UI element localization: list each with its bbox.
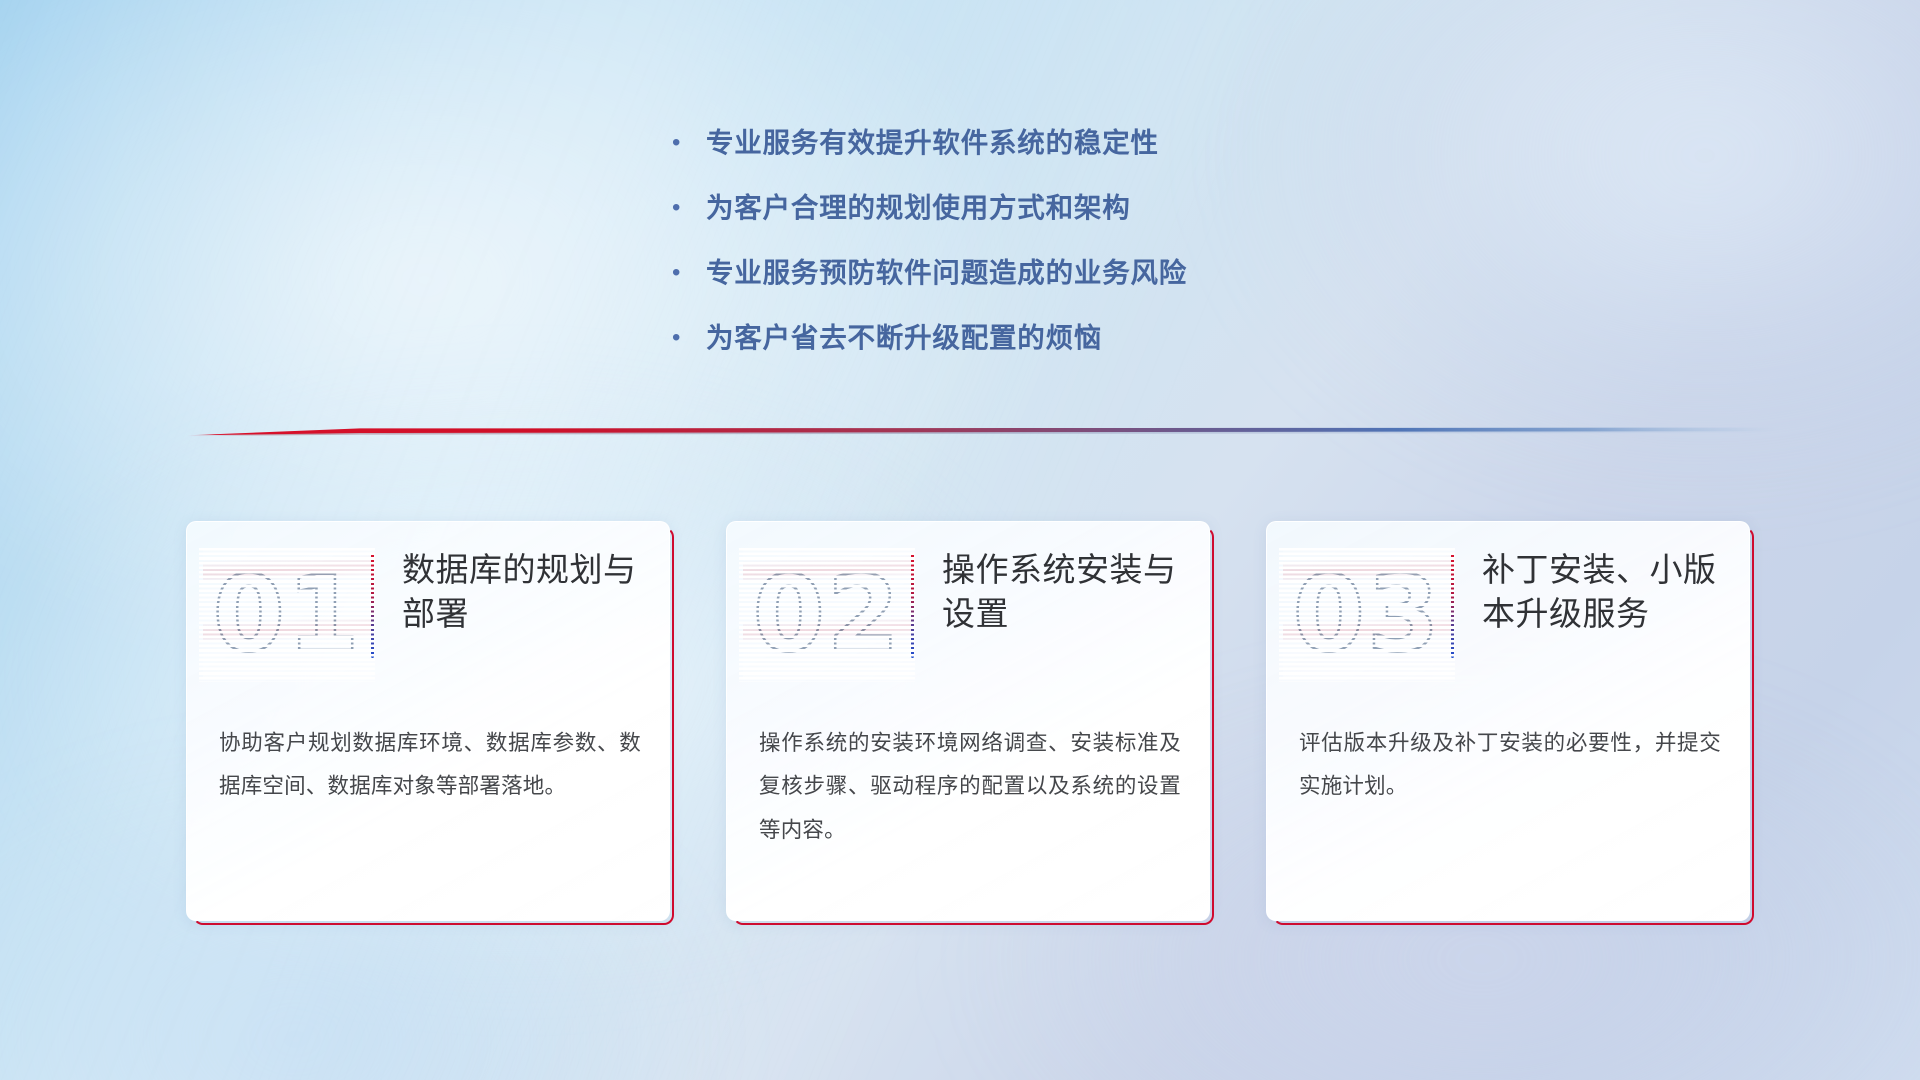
card-description: 操作系统的安装环境网络调查、安装标准及复核步骤、驱动程序的配置以及系统的设置等内… [759,722,1181,852]
card-number-outline: 01 [203,550,371,678]
card-description: 评估版本升级及补丁安装的必要性，并提交实施计划。 [1299,722,1721,809]
service-card[interactable]: 02 操作系统安装与设置 操作系统的安装环境网络调查、安装标准及复核步骤、驱动程… [726,521,1210,921]
service-card[interactable]: 01 数据库的规划与部署 协助客户规划数据库环境、数据库参数、数据库空间、数据库… [186,521,670,921]
card-title: 补丁安装、小版本升级服务 [1482,548,1749,635]
card-number-outline: 02 [743,550,911,678]
card-divider-bar [1451,554,1454,658]
card-header: 02 操作系统安装与设置 [727,548,1209,688]
card-number-text: 03 [1283,550,1451,678]
benefits-bullet-list: • 专业服务有效提升软件系统的稳定性 • 为客户合理的规划使用方式和架构 • 专… [672,110,1432,370]
bullet-dot-icon: • [672,240,706,305]
card-divider-bar [371,554,374,658]
list-item: • 为客户合理的规划使用方式和架构 [672,175,1432,240]
card-divider-bar [911,554,914,658]
card-number-text: 01 [203,550,371,678]
card-header: 01 数据库的规划与部署 [187,548,669,688]
card-header: 03 补丁安装、小版本升级服务 [1267,548,1749,688]
list-item: • 专业服务预防软件问题造成的业务风险 [672,240,1432,305]
bullet-text: 为客户合理的规划使用方式和架构 [706,175,1131,240]
card-surface: 03 补丁安装、小版本升级服务 评估版本升级及补丁安装的必要性，并提交实施计划。 [1266,521,1750,921]
bullet-dot-icon: • [672,305,706,370]
bullet-dot-icon: • [672,175,706,240]
bullet-text: 专业服务预防软件问题造成的业务风险 [706,240,1187,305]
list-item: • 专业服务有效提升软件系统的稳定性 [672,110,1432,175]
bullet-dot-icon: • [672,110,706,175]
card-description: 协助客户规划数据库环境、数据库参数、数据库空间、数据库对象等部署落地。 [219,722,641,809]
card-number-outline: 03 [1283,550,1451,678]
list-item: • 为客户省去不断升级配置的烦恼 [672,305,1432,370]
card-surface: 01 数据库的规划与部署 协助客户规划数据库环境、数据库参数、数据库空间、数据库… [186,521,670,921]
card-surface: 02 操作系统安装与设置 操作系统的安装环境网络调查、安装标准及复核步骤、驱动程… [726,521,1210,921]
section-divider [180,418,1780,444]
card-title: 操作系统安装与设置 [942,548,1209,635]
bullet-text: 为客户省去不断升级配置的烦恼 [706,305,1102,370]
card-title: 数据库的规划与部署 [402,548,669,635]
bullet-text: 专业服务有效提升软件系统的稳定性 [706,110,1159,175]
service-card-list: 01 数据库的规划与部署 协助客户规划数据库环境、数据库参数、数据库空间、数据库… [186,521,1752,921]
service-card[interactable]: 03 补丁安装、小版本升级服务 评估版本升级及补丁安装的必要性，并提交实施计划。 [1266,521,1750,921]
card-number-text: 02 [743,550,911,678]
